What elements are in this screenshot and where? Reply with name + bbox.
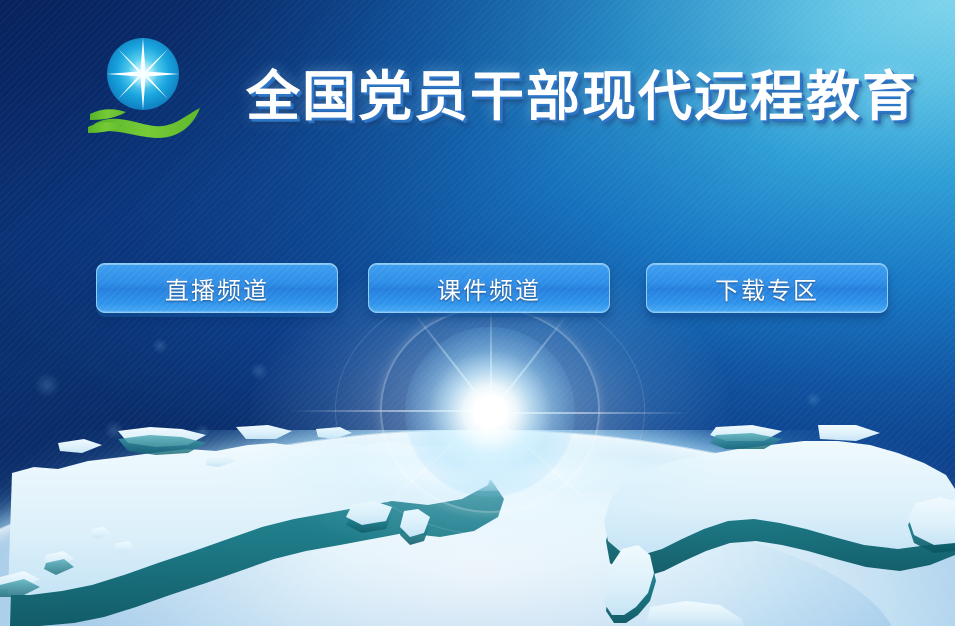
banner-stage: 全国党员干部现代远程教育 直播频道 课件频道 下载专区 <box>0 0 955 626</box>
nav-button-download-zone[interactable]: 下载专区 <box>646 263 888 313</box>
logo-star-glow <box>128 59 158 89</box>
star-globe-logo <box>88 28 208 148</box>
logo-wave-small-1 <box>90 109 126 120</box>
nav-button-label: 下载专区 <box>715 271 819 306</box>
nav-button-label: 直播频道 <box>165 271 269 306</box>
nav-button-row: 直播频道 课件频道 下载专区 <box>96 263 872 317</box>
page-title: 全国党员干部现代远程教育 <box>246 70 918 124</box>
nav-button-label: 课件频道 <box>437 271 541 306</box>
banner-header: 全国党员干部现代远程教育 <box>0 0 955 175</box>
nav-button-courseware-channel[interactable]: 课件频道 <box>368 263 610 313</box>
earth-globe <box>0 430 955 626</box>
nav-button-live-channel[interactable]: 直播频道 <box>96 263 338 313</box>
globe-surface <box>0 430 955 626</box>
